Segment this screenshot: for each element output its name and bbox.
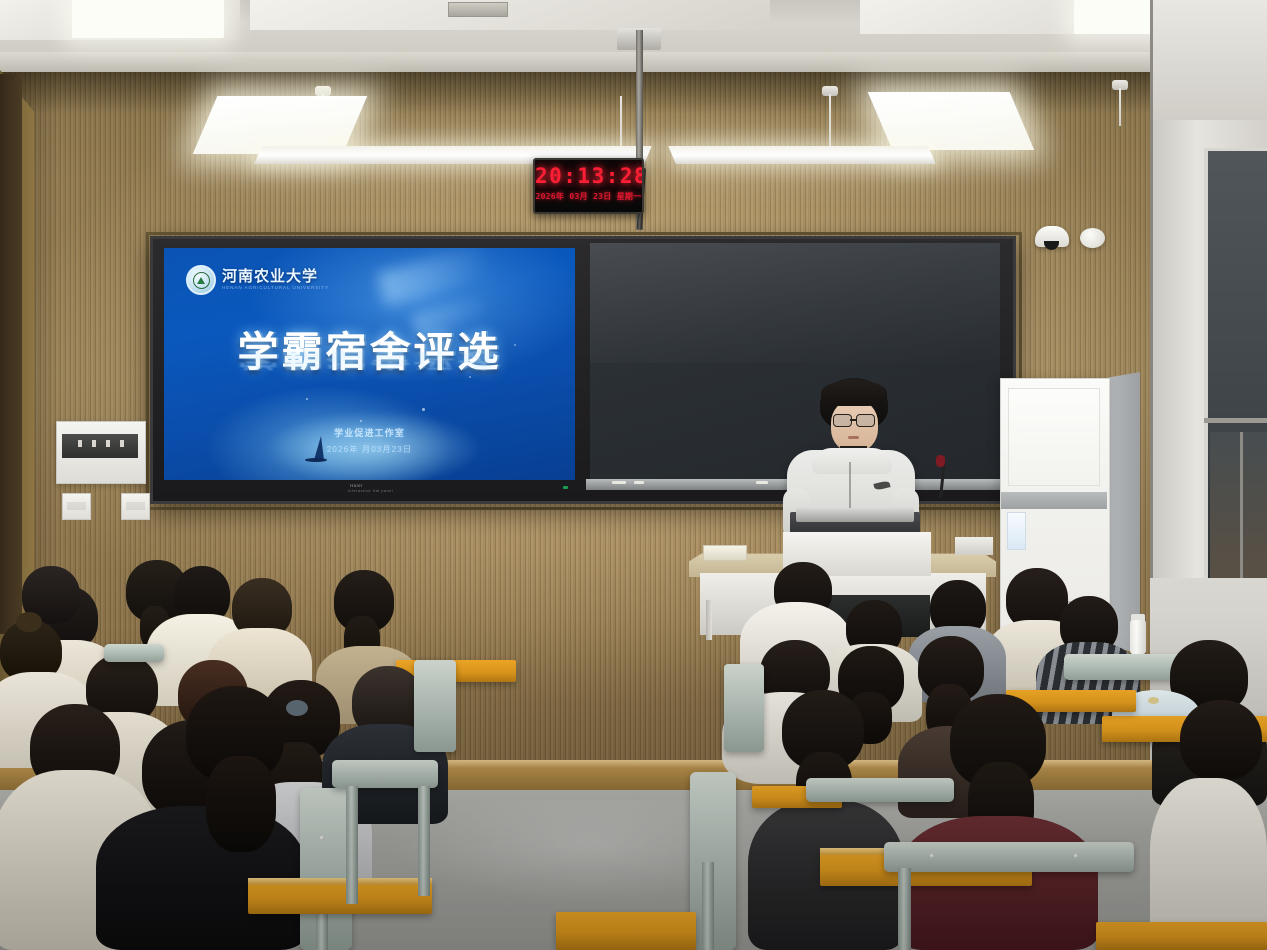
led-wall-clock: 20:13:28 2026年 03月 23日 星期一 [533,158,644,214]
breaker-switch[interactable] [120,440,124,447]
sailboat-hull [305,458,327,462]
ac-display-band [1001,492,1107,509]
slide-particle [306,398,308,400]
logo-mountain-icon [197,277,205,284]
chair-back[interactable] [332,760,438,788]
chair-leg [418,786,430,896]
logo-seal-icon [186,265,216,295]
desk[interactable] [556,912,696,950]
presenter-mouth [848,436,859,439]
presenter-fringe [821,380,887,406]
smoke-detector-icon [1080,228,1105,248]
hat-button [1148,697,1159,704]
chair-back[interactable] [724,664,764,752]
chair-back[interactable] [806,778,954,802]
chalk-piece[interactable] [612,481,626,484]
presentation-screen[interactable]: 河南农业大学 HENAN AGRICULTURAL UNIVERSITY 学霸宿… [164,248,575,480]
student-ponytail [206,756,276,852]
desk[interactable] [1096,922,1267,950]
chair-leg [702,862,714,950]
slide-title-reflection: 学霸宿舍评选 [164,350,575,371]
light-cable [1119,88,1121,126]
recessed-ceiling-light [72,0,224,38]
desk-edge [248,878,432,885]
student-hair-bun [16,612,42,632]
chair-back[interactable] [104,644,164,662]
blackboard-sheen [590,243,1000,363]
chair-screw [930,854,934,858]
clock-time: 20:13:28 [535,164,642,188]
slide-particle [469,376,471,378]
podium-side-box [955,537,993,555]
water-bottle [1130,620,1146,654]
chair-back[interactable] [884,842,1134,872]
light-cable [829,94,831,150]
slide-organization: 学业促进工作室 [164,426,575,439]
wall-socket-right[interactable] [121,493,150,520]
microphone-head [936,455,945,467]
chair-leg [346,786,358,904]
ac-front-panel [1008,388,1100,486]
window-frame [1240,432,1243,582]
slide-particle [422,408,425,411]
left-door-edge [0,74,22,634]
ac-energy-label [1007,512,1026,550]
logo-name-cn: 河南农业大学 [222,269,329,284]
breaker-switch[interactable] [106,440,110,447]
light-cable [620,96,622,152]
ceiling-vent [448,2,508,17]
desk[interactable] [248,880,432,914]
podium-monitor[interactable] [796,508,914,522]
student-head [1180,700,1262,780]
slide-particle [360,420,362,422]
chalk-piece[interactable] [634,481,644,484]
paper-stack[interactable] [703,545,747,561]
breaker-switch[interactable] [92,440,96,447]
right-wall-upper [1150,0,1267,120]
wall-socket-left[interactable] [62,493,91,520]
chair-back[interactable] [414,660,456,752]
student-hair-tie [286,700,308,716]
logo-seal-inner [193,272,210,289]
panel-breaker-window [62,434,138,458]
presenter-glasses-bridge [850,419,857,421]
classroom-photo: 20:13:28 2026年 03月 23日 星期一 河南农业大学 HENAN … [0,0,1267,950]
chair-screw [1074,854,1078,858]
window-lower-pane [1210,432,1267,587]
chalk-piece[interactable] [756,481,768,484]
logo-text-block: 河南农业大学 HENAN AGRICULTURAL UNIVERSITY [222,269,329,291]
podium-leg [706,600,712,640]
presenter-glasses-right [856,414,875,427]
display-brand-sub: interactive flat panel [348,489,393,493]
breaker-switch[interactable] [78,440,82,447]
ceiling-panel [250,0,770,30]
window-mullion [1204,418,1267,423]
clock-date: 2026年 03月 23日 星期一 [535,191,642,202]
display-power-led [563,486,568,489]
logo-name-en: HENAN AGRICULTURAL UNIVERSITY [222,286,329,291]
university-logo: 河南农业大学 HENAN AGRICULTURAL UNIVERSITY [186,265,329,295]
chair-leg [898,868,911,950]
slide-date: 2026年 月03月23日 [164,444,575,455]
presenter-hood [812,448,892,474]
chair-screw [320,836,324,840]
display-brand-label: Haier [350,483,363,488]
